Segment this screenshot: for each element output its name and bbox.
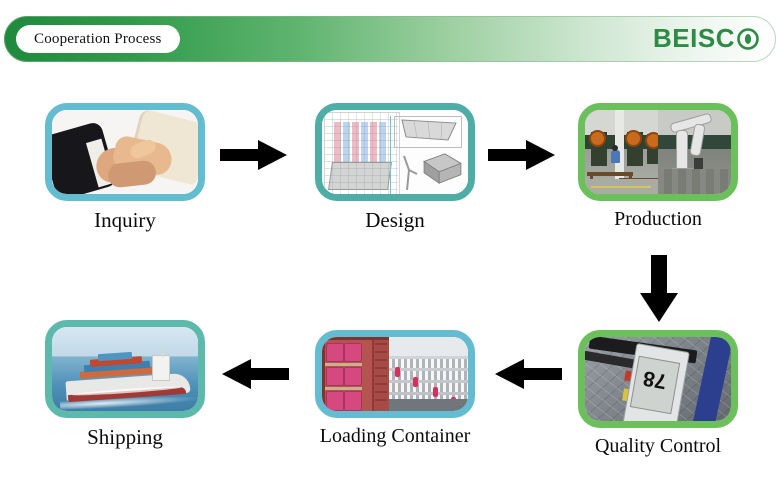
digital-caliper-image: 78 bbox=[585, 337, 731, 421]
process-step-inquiry[interactable]: Inquiry bbox=[45, 103, 205, 233]
arrow-inquiry-to-design bbox=[220, 139, 288, 176]
brand-logo: BEISC bbox=[653, 23, 760, 53]
process-step-shipping[interactable]: Shipping bbox=[45, 320, 205, 450]
inquiry-image-frame bbox=[45, 103, 205, 201]
shipping-label: Shipping bbox=[45, 425, 205, 450]
loading-container-label: Loading Container bbox=[315, 425, 475, 448]
header-title-pill: Cooperation Process bbox=[16, 25, 180, 53]
page-title: Cooperation Process bbox=[34, 31, 162, 48]
process-step-loading-container[interactable]: Loading Container bbox=[315, 330, 475, 448]
design-label: Design bbox=[315, 208, 475, 233]
quality-control-image-frame: 78 bbox=[578, 330, 738, 428]
process-step-design[interactable]: Design bbox=[315, 103, 475, 233]
inquiry-label: Inquiry bbox=[45, 208, 205, 233]
arrow-production-to-quality-control bbox=[638, 255, 680, 328]
shopping-carts-container-image bbox=[322, 337, 468, 411]
shipping-image-frame bbox=[45, 320, 205, 418]
brand-logo-text: BEISC bbox=[653, 25, 735, 51]
factory-production-image bbox=[585, 110, 731, 194]
production-image-frame bbox=[578, 103, 738, 201]
loading-container-image-frame bbox=[315, 330, 475, 418]
brand-logo-leaf-icon bbox=[736, 26, 760, 50]
cad-drawing-image bbox=[322, 110, 468, 194]
quality-control-label: Quality Control bbox=[578, 435, 738, 458]
process-step-production[interactable]: Production bbox=[578, 103, 738, 231]
arrow-quality-control-to-loading-container bbox=[495, 358, 563, 395]
design-image-frame bbox=[315, 103, 475, 201]
arrow-design-to-production bbox=[488, 139, 556, 176]
process-step-quality-control[interactable]: 78 Quality Control bbox=[578, 330, 738, 458]
arrow-loading-container-to-shipping bbox=[222, 358, 290, 395]
container-ship-image bbox=[52, 327, 198, 411]
production-label: Production bbox=[578, 208, 738, 231]
handshake-image bbox=[52, 110, 198, 194]
